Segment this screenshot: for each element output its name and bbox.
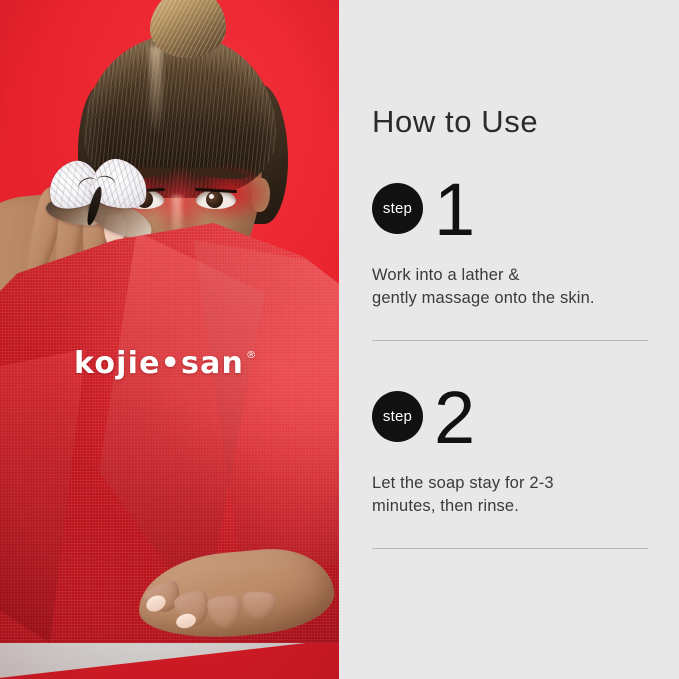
step-badge-1: step: [372, 183, 423, 234]
hair-highlight: [150, 46, 162, 136]
page-title: How to Use: [372, 104, 538, 140]
instructions-panel: How to Use step 1 Work into a lather & g…: [339, 0, 679, 679]
step-block-1: step 1 Work into a lather & gently massa…: [372, 178, 595, 311]
step-2-header: step 2: [372, 386, 554, 456]
registered-trademark-icon: ®: [246, 351, 256, 361]
brand-logo: kojie•san ®: [74, 349, 256, 379]
butterfly-icon: [42, 160, 158, 246]
step-divider-2: [372, 548, 648, 549]
brand-name: kojie•san: [74, 349, 244, 379]
step-divider-1: [372, 340, 648, 341]
how-to-use-infographic: kojie•san ® How to Use step 1 Work into …: [0, 0, 679, 679]
step-number-2: 2: [434, 386, 474, 450]
step-number-1: 1: [434, 178, 474, 242]
step-badge-2: step: [372, 391, 423, 442]
step-1-header: step 1: [372, 178, 595, 248]
step-2-instruction: Let the soap stay for 2-3 minutes, then …: [372, 472, 554, 519]
step-block-2: step 2 Let the soap stay for 2-3 minutes…: [372, 386, 554, 519]
iris-right: [206, 191, 223, 208]
step-1-instruction: Work into a lather & gently massage onto…: [372, 264, 595, 311]
product-photo-panel: kojie•san ®: [0, 0, 339, 679]
photo-stage: [0, 0, 339, 679]
